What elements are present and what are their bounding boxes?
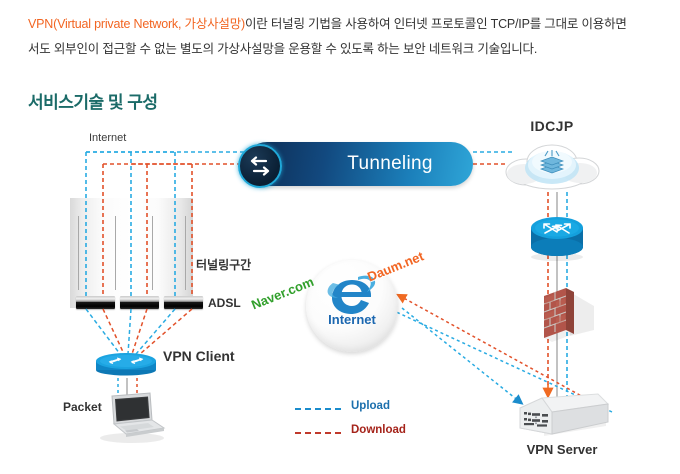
- intro-highlight: VPN(Virtual private Network, 가상사설망): [28, 17, 245, 31]
- idc-cloud-icon: [500, 138, 604, 194]
- label-idcjp: IDCJP: [500, 118, 604, 134]
- label-adsl: ADSL: [208, 296, 241, 310]
- core-router-icon: [529, 215, 585, 261]
- section-heading: 서비스기술 및 구성: [28, 88, 158, 113]
- label-vpn-client: VPN Client: [163, 348, 235, 364]
- bidirectional-arrows-icon: [238, 144, 282, 188]
- network-diagram: Internet 터널링구간 ADSL VPN Client Packet Tu…: [0, 112, 680, 474]
- vpn-server-rack-icon: [514, 392, 610, 442]
- legend-item-download: Download: [295, 424, 425, 442]
- label-vpn-server: VPN Server: [506, 442, 618, 457]
- laptop-icon: [92, 390, 170, 444]
- label-tunnel-zone: 터널링구간: [196, 256, 251, 273]
- legend-label-download: Download: [351, 424, 406, 436]
- vpn-client-router: [95, 350, 157, 376]
- legend-label-upload: Upload: [351, 400, 390, 412]
- firewall-brick-wall-icon: [534, 284, 598, 342]
- tunneling-label: Tunneling: [317, 142, 463, 186]
- label-internet-circle: Internet: [306, 312, 398, 327]
- legend: Upload Download: [295, 400, 425, 442]
- intro-paragraph: VPN(Virtual private Network, 가상사설망)이란 터널…: [28, 12, 628, 62]
- legend-dash-upload: [295, 408, 341, 410]
- legend-dash-download: [295, 432, 341, 434]
- label-internet-left: Internet: [89, 132, 126, 144]
- legend-item-upload: Upload: [295, 400, 425, 418]
